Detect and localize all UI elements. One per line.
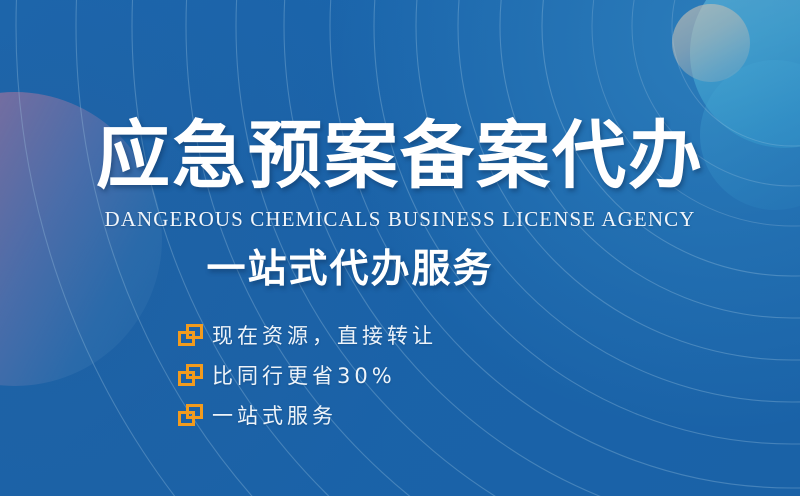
double-square-icon — [178, 403, 204, 429]
banner-content: 应急预案备案代办 DANGEROUS CHEMICALS BUSINESS LI… — [0, 0, 800, 496]
list-item: 比同行更省30% — [178, 356, 437, 396]
page-subtitle: 一站式代办服务 — [0, 245, 700, 295]
promotional-banner: 应急预案备案代办 DANGEROUS CHEMICALS BUSINESS LI… — [0, 0, 800, 496]
list-item: 一站式服务 — [178, 396, 437, 436]
page-title: 应急预案备案代办 — [0, 114, 800, 198]
feature-label: 一站式服务 — [212, 403, 337, 429]
double-square-icon — [178, 323, 204, 349]
feature-list: 现在资源，直接转让 比同行更省30% 一站式服务 — [178, 316, 437, 436]
feature-label: 现在资源，直接转让 — [212, 323, 437, 349]
double-square-icon — [178, 363, 204, 389]
page-title-english: DANGEROUS CHEMICALS BUSINESS LICENSE AGE… — [0, 206, 800, 232]
list-item: 现在资源，直接转让 — [178, 316, 437, 356]
feature-label: 比同行更省30% — [212, 363, 396, 389]
